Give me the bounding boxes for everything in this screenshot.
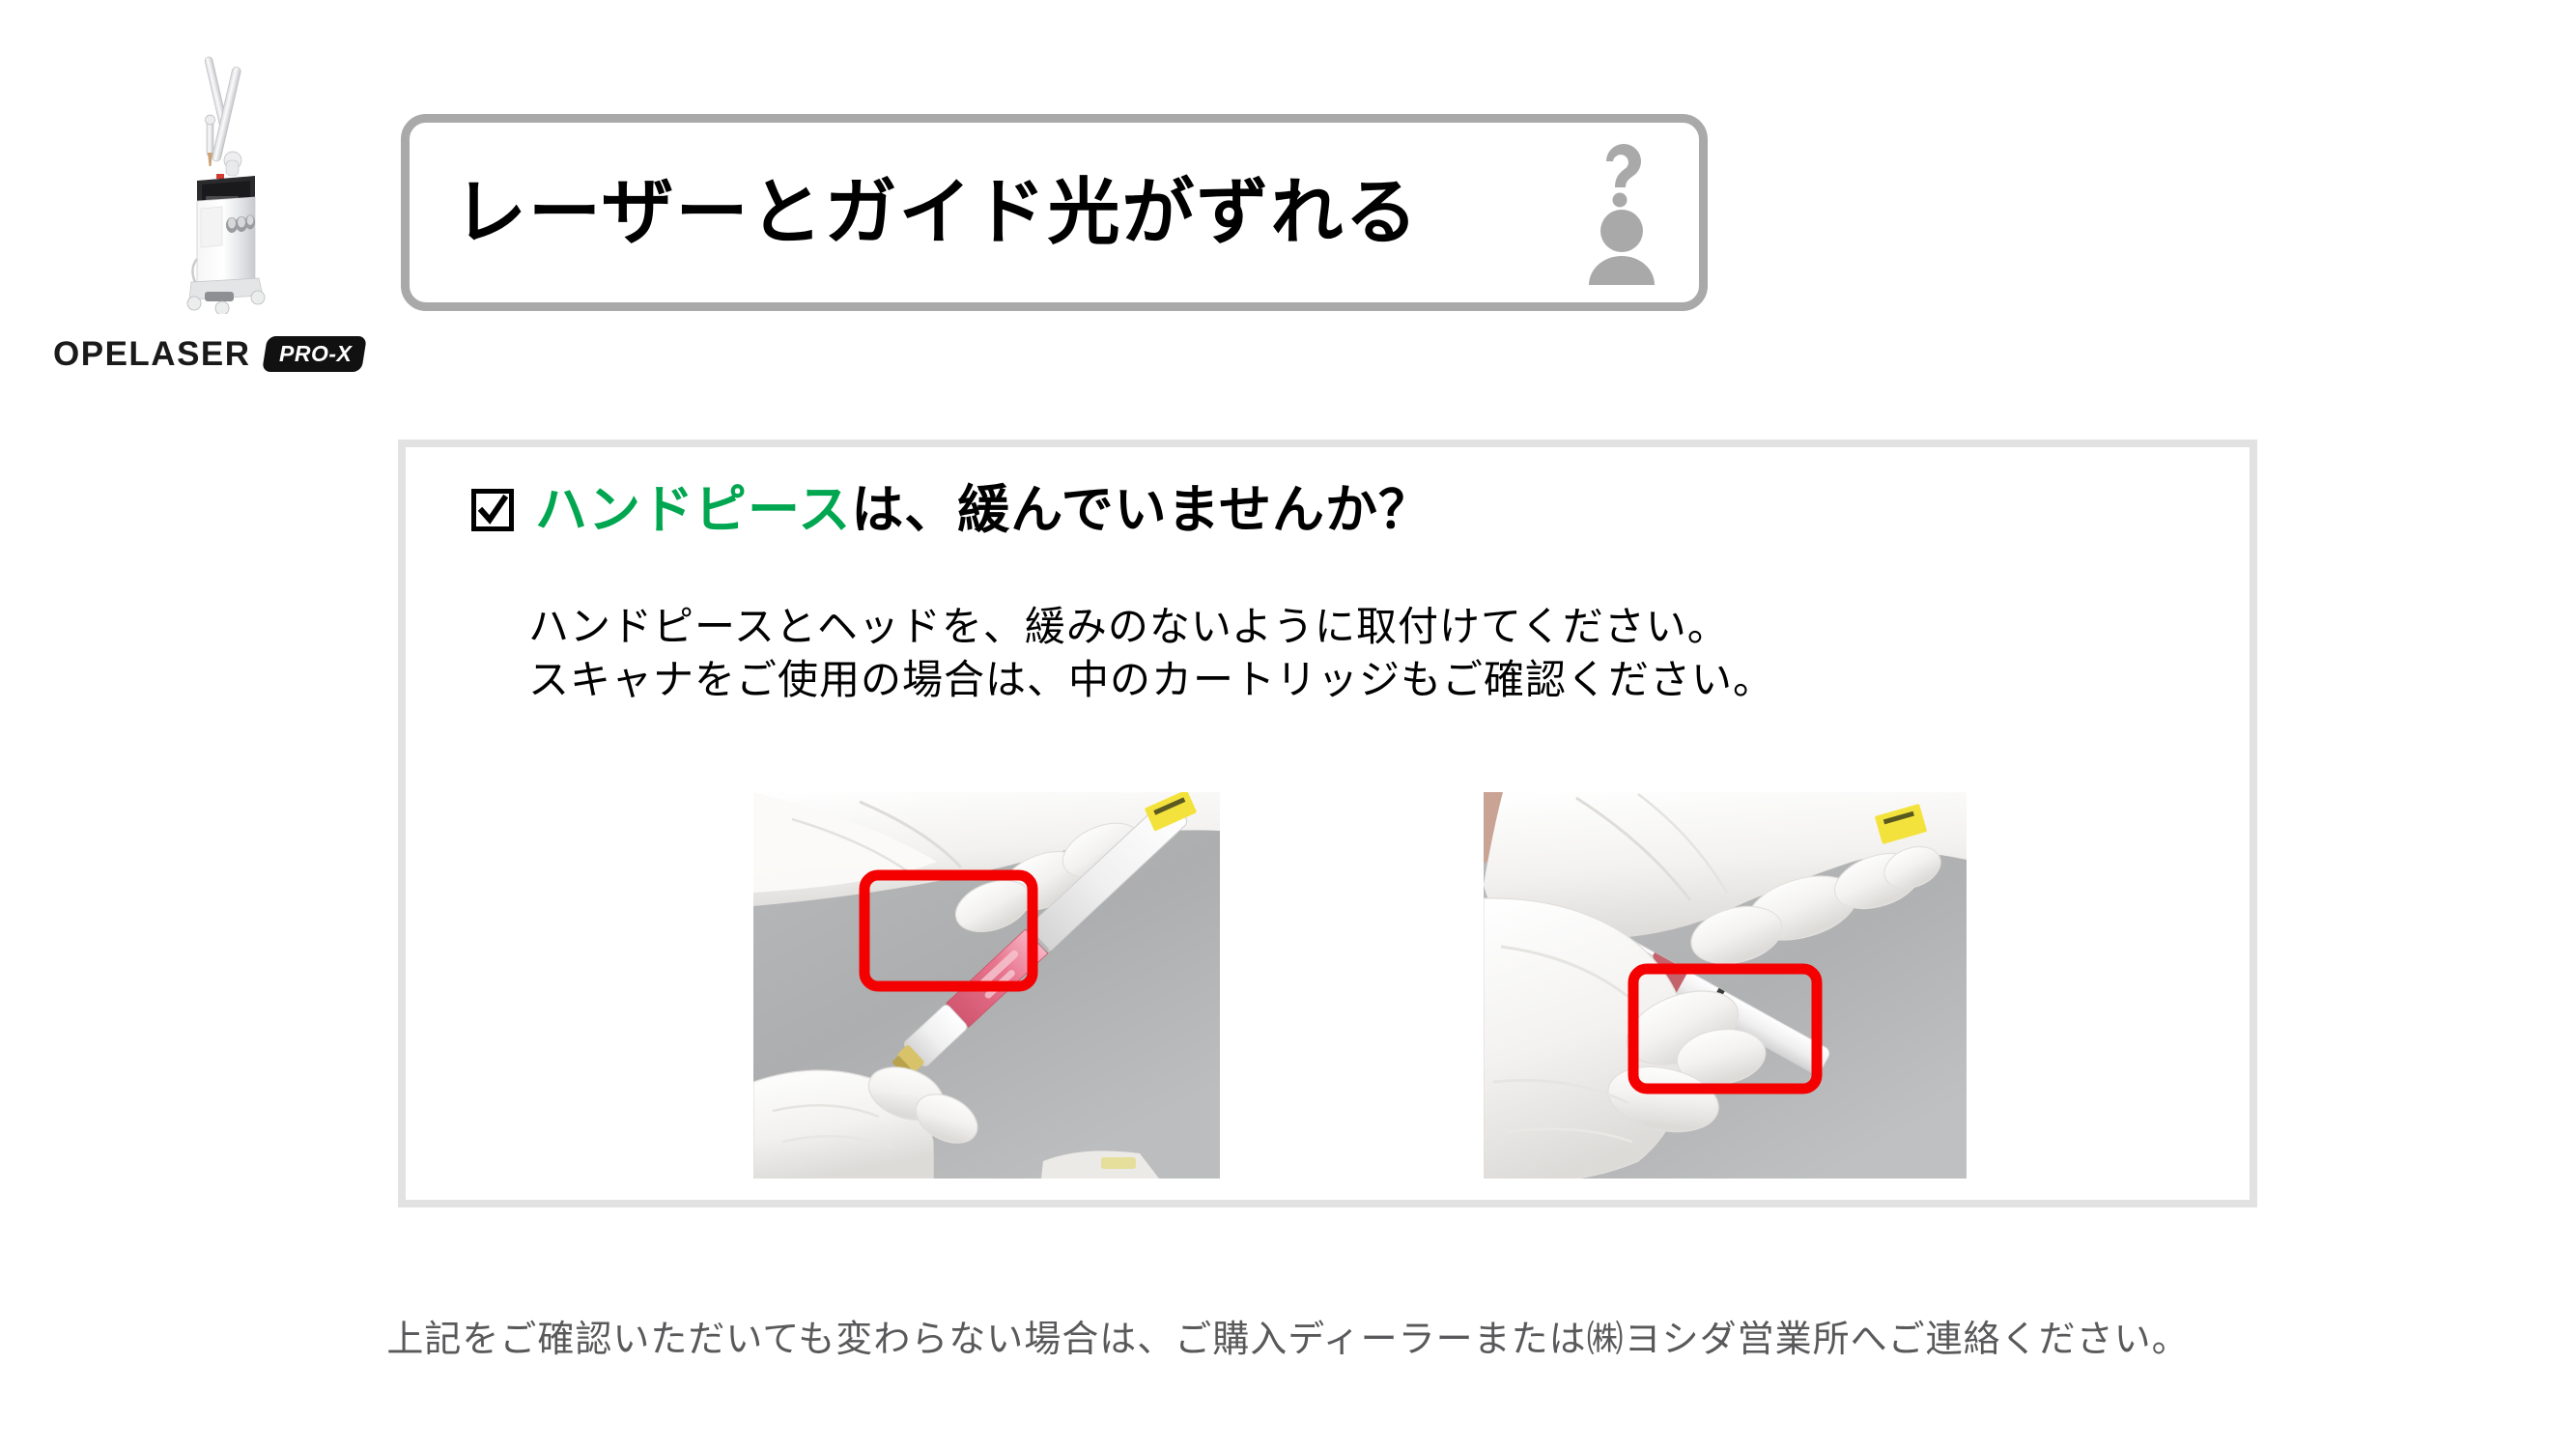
brand-logo: OPELASER PRO-X [53,328,382,379]
handpiece-head-joint-photo [753,792,1220,1179]
brand-badge-label: PRO-X [279,343,352,365]
scanner-cartridge-tip-highlight [1633,969,1817,1089]
footer-note: 上記をご確認いただいても変わらない場合は、ご購入ディーラーまたは㈱ヨシダ営業所へ… [0,1309,2576,1362]
brand-badge: PRO-X [262,336,367,372]
title-banner: レーザーとガイド光がずれる [401,114,1708,311]
body-line-1: ハンドピースとヘッドを、緩みのないように取付けてください。 [528,600,1774,653]
page-title: レーザーとガイド光がずれる [454,177,1420,249]
heading-highlight-term: ハンドピース [535,484,851,536]
panel-body-text: ハンドピースとヘッドを、緩みのないように取付けてください。 スキャナをご使用の場… [528,600,1774,707]
check-heading: ハンドピース は、緩んでいませんか？ [471,484,1431,536]
handpiece-head-connection-highlight [864,875,1033,986]
product-device-image [162,39,292,314]
checked-checkbox-icon [471,489,514,531]
person-question-icon [1583,140,1660,285]
heading-rest-text: は、緩んでいませんか？ [851,484,1431,536]
content-panel: ハンドピース は、緩んでいませんか？ ハンドピースとヘッドを、緩みのないように取… [398,440,2257,1207]
brand-wordmark: OPELASER [53,337,251,371]
body-line-2: スキャナをご使用の場合は、中のカートリッジもご確認ください。 [528,653,1774,706]
scanner-cartridge-photo [1484,792,1967,1179]
